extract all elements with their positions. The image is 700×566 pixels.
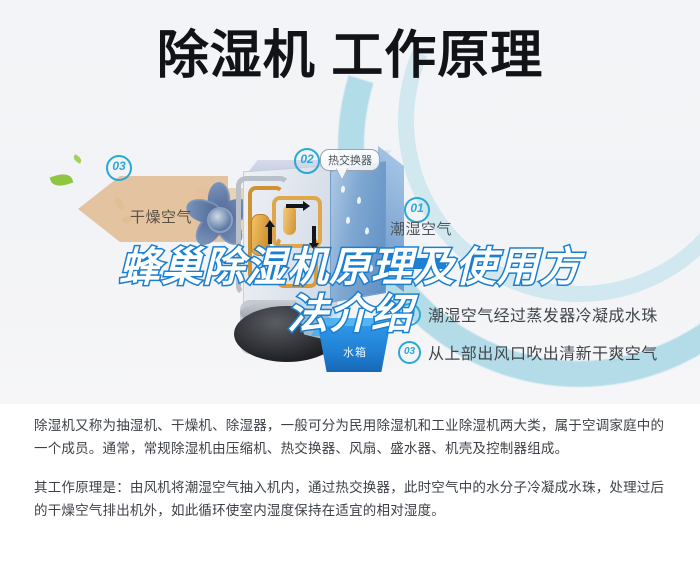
paragraph-2: 其工作原理是：由风机将潮湿空气抽入机内，通过热交换器，此时空气中的水分子冷凝成水…	[34, 476, 670, 522]
step-badge: 03	[398, 341, 421, 364]
intake-arrow-icon	[392, 258, 446, 269]
water-droplet-icon	[369, 264, 373, 272]
leaf-icon	[50, 171, 74, 189]
step-row: 02 潮湿空气经过蒸发器冷凝成水珠	[398, 302, 698, 326]
evaporator-fins	[330, 161, 386, 303]
water-droplet-icon	[341, 185, 345, 193]
water-droplet-icon	[351, 250, 355, 258]
hero-title: 除湿机 工作原理	[0, 26, 700, 86]
step-text: 潮湿空气经过蒸发器冷凝成水珠	[428, 302, 658, 326]
article-body: 除湿机又称为抽湿机、干燥机、除湿器，一般可分为民用除湿机和工业除湿机两大类，属于…	[34, 414, 670, 522]
water-droplet-icon	[346, 216, 350, 224]
step-list: 02 潮湿空气经过蒸发器冷凝成水珠 03 从上部出风口吹出清新干爽空气	[398, 302, 698, 378]
step-row: 03 从上部出风口吹出清新干爽空气	[398, 340, 698, 364]
compressor-cylinder	[283, 205, 296, 235]
water-droplet-icon	[365, 227, 369, 235]
badge-03: 03	[106, 155, 132, 181]
flow-arrow-down-icon	[312, 226, 316, 244]
water-tank-label: 水箱	[331, 344, 379, 360]
flow-arrow-right-icon	[286, 204, 304, 208]
water-droplet-icon	[357, 196, 361, 204]
humid-air-label: 潮湿空气	[390, 218, 452, 239]
leaf-icon	[72, 154, 83, 164]
paragraph-1: 除湿机又称为抽湿机、干燥机、除湿器，一般可分为民用除湿机和工业除湿机两大类，属于…	[34, 414, 670, 460]
heat-exchanger-callout: 热交换器	[320, 149, 380, 171]
dry-air-label: 干燥空气	[130, 206, 192, 227]
badge-02: 02	[294, 148, 320, 174]
callout-tail	[336, 167, 348, 179]
fan-hub	[207, 207, 233, 233]
page-root: 除湿机 工作原理	[0, 0, 700, 566]
hero-infographic: 除湿机 工作原理	[0, 0, 700, 404]
step-text: 从上部出风口吹出清新干爽空气	[428, 340, 658, 364]
flow-arrow-up-icon	[268, 226, 272, 244]
step-badge: 02	[398, 303, 421, 326]
